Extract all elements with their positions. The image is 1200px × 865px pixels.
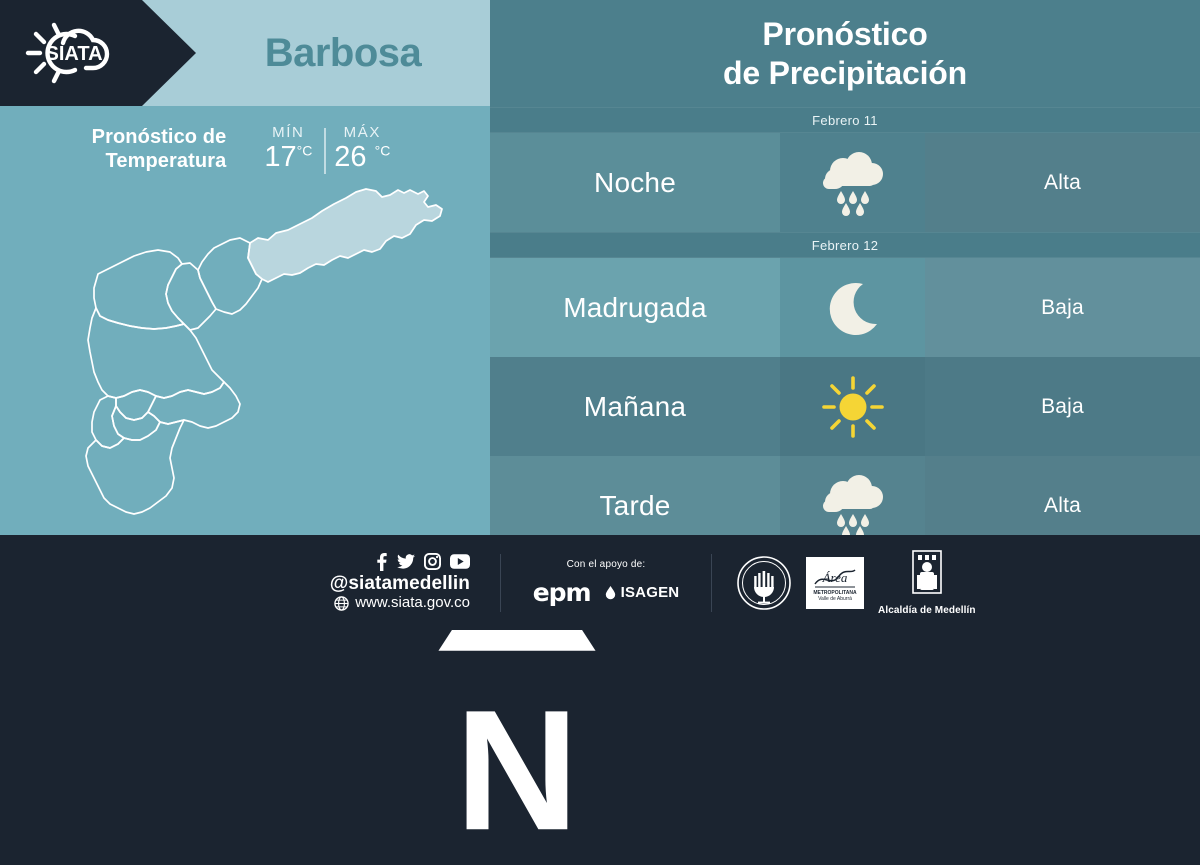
map-region-itagui: [116, 390, 156, 420]
sun-cloud-icon: SIATA: [12, 16, 132, 90]
map-region-envigado: [148, 382, 240, 428]
precipitation-title-line1: Pronóstico: [762, 15, 927, 53]
footer-support-block: Con el apoyo de: epm ISAGEN: [501, 559, 711, 607]
temperature-title-line1: Pronóstico de: [92, 126, 227, 148]
support-caption: Con el apoyo de:: [567, 559, 646, 570]
support-logos: epm ISAGEN: [533, 578, 680, 607]
facebook-icon[interactable]: [375, 553, 388, 571]
forecast-rows: Febrero 11 Noche: [490, 107, 1200, 555]
date-bar-second: Febrero 12: [490, 232, 1200, 258]
youtube-icon[interactable]: [450, 554, 470, 569]
instagram-icon[interactable]: [424, 553, 441, 570]
website-link[interactable]: www.siata.gov.co: [334, 594, 470, 612]
temperature-min-value: 17°C: [264, 142, 312, 172]
footer-social-block: @siatamedellin www.siata.gov.co: [0, 553, 500, 613]
temperature-title: Pronóstico de Temperatura: [92, 125, 227, 174]
map-region-barbosa: [248, 189, 442, 282]
forecast-row-manana[interactable]: Mañana: [490, 357, 1200, 456]
left-header: SIATA Barbosa: [0, 0, 490, 106]
city-title: Barbosa: [196, 0, 490, 106]
udea-seal-icon[interactable]: [736, 555, 792, 611]
isagen-wordmark: ISAGEN: [621, 584, 680, 601]
moon-icon: [823, 278, 883, 338]
left-panel: SIATA Barbosa Pronóstico de Temperatura …: [0, 0, 490, 535]
weather-icon-cell: [780, 258, 925, 357]
temperature-max: MÁX 26 °C: [326, 124, 398, 172]
aburra-valley-map[interactable]: N: [0, 178, 490, 535]
amva-logo[interactable]: Área METROPOLITANA Valle de Aburrá: [806, 557, 864, 609]
forecast-row-madrugada[interactable]: Madrugada Baja: [490, 258, 1200, 357]
amva-line2: Valle de Aburrá: [818, 596, 852, 602]
temperature-min-label: MÍN: [272, 124, 304, 141]
precipitation-title-line2: de Precipitación: [723, 54, 967, 92]
period-label: Noche: [490, 133, 780, 232]
twitter-icon[interactable]: [397, 553, 415, 571]
forecast-row-noche[interactable]: Noche: [490, 133, 1200, 232]
temperature-min: MÍN 17°C: [252, 124, 324, 172]
rain-cloud-icon: [817, 149, 889, 217]
alcaldia-label: Alcaldía de Medellín: [878, 605, 976, 616]
probability-label: Baja: [925, 357, 1200, 456]
website-text: www.siata.gov.co: [355, 594, 470, 612]
period-label: Madrugada: [490, 258, 780, 357]
isagen-drop-icon: [603, 585, 618, 600]
amva-logo-box: Área METROPOLITANA Valle de Aburrá: [806, 557, 864, 609]
siata-logo-tab[interactable]: SIATA: [0, 0, 196, 106]
north-label: N: [455, 675, 579, 865]
temperature-max-label: MÁX: [344, 124, 381, 141]
sun-icon: [820, 374, 886, 440]
probability-label: Baja: [925, 258, 1200, 357]
area-metropolitana-logo: Área METROPOLITANA Valle de Aburrá: [809, 560, 861, 606]
svg-text:Área: Área: [822, 570, 848, 585]
globe-icon: [334, 596, 349, 611]
map-svg: [0, 178, 490, 535]
temperature-values: MÍN 17°C MÁX 26 °C: [252, 124, 398, 174]
footer-project-block: Área METROPOLITANA Valle de Aburrá: [712, 549, 1200, 616]
alcaldia-medellin-logo: [908, 549, 946, 601]
weather-icon-cell: [780, 133, 925, 232]
period-label: Mañana: [490, 357, 780, 456]
date-bar-first: Febrero 11: [490, 107, 1200, 133]
social-handle[interactable]: @siatamedellin: [330, 573, 470, 595]
temperature-max-value: 26 °C: [334, 142, 390, 172]
isagen-logo[interactable]: ISAGEN: [603, 584, 680, 601]
weather-forecast-poster: SIATA Barbosa Pronóstico de Temperatura …: [0, 0, 1200, 630]
rain-cloud-icon: [817, 472, 889, 540]
footer: @siatamedellin www.siata.gov.co Con el a…: [0, 535, 1200, 630]
map-region-caldas: [86, 420, 184, 514]
right-panel: Pronóstico de Precipitación Febrero 11 N…: [490, 0, 1200, 535]
temperature-divider: [324, 128, 326, 174]
temperature-title-line2: Temperatura: [106, 150, 227, 172]
map-region-bello: [94, 250, 184, 329]
precipitation-header: Pronóstico de Precipitación: [490, 0, 1200, 107]
probability-label: Alta: [925, 133, 1200, 232]
weather-icon-cell: [780, 357, 925, 456]
alcaldia-logo[interactable]: Alcaldía de Medellín: [878, 549, 976, 616]
siata-logo-text: SIATA: [45, 43, 102, 65]
social-icons: [375, 553, 470, 571]
epm-logo[interactable]: epm: [533, 578, 591, 607]
temperature-block: Pronóstico de Temperatura MÍN 17°C MÁX 2…: [0, 118, 490, 180]
